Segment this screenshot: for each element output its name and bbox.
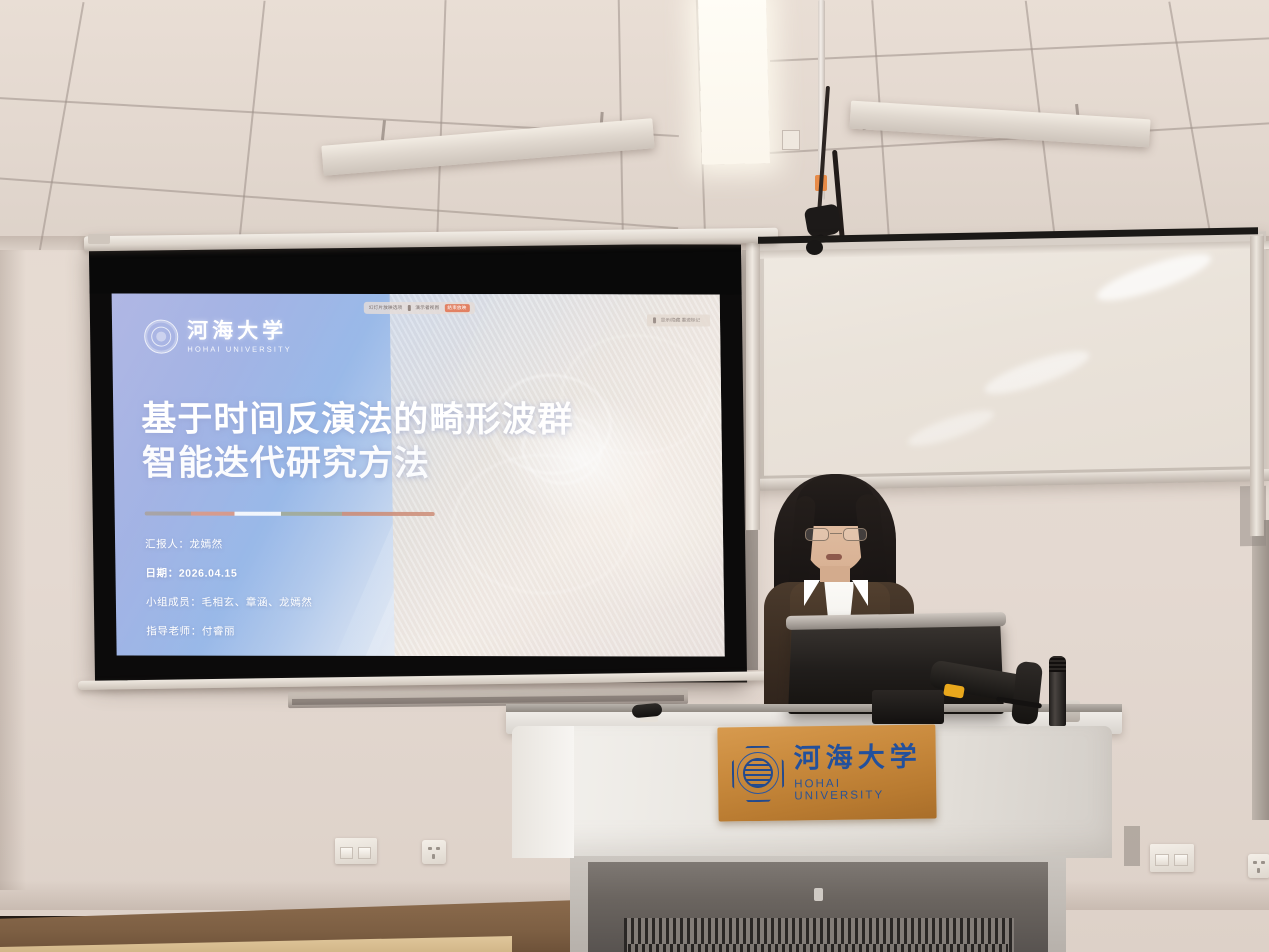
slide-title-line2: 智能迭代研究方法 xyxy=(142,442,575,487)
plaque-en-text: HOHAI UNIVERSITY xyxy=(794,776,936,802)
cabinet-ventilation-slots-lower xyxy=(628,944,1008,952)
shirt-collar-right xyxy=(852,580,868,606)
whiteboard xyxy=(752,231,1266,491)
whiteboard-right-post xyxy=(1250,236,1264,536)
hohai-seal-icon-plaque xyxy=(732,746,785,803)
ppt-end-show-badge[interactable]: 结束放映 xyxy=(444,304,469,312)
fluorescent-light-left xyxy=(321,118,654,176)
ppt-slideshow-toolbar[interactable]: 幻灯片放映选项 演示者视图 结束放映 xyxy=(364,302,475,314)
screen-roller-cap xyxy=(88,234,110,244)
projection-screen: 幻灯片放映选项 演示者视图 结束放映 显示/隐藏 墨迹标记 河海大学 HOHAI… xyxy=(89,243,747,682)
wall-corner-shadow xyxy=(0,250,26,890)
ppt-toolbar-label: 幻灯片放映选项 xyxy=(369,305,403,311)
ppt-toolbar-divider-icon xyxy=(407,305,410,311)
power-outlet-left[interactable] xyxy=(422,840,446,864)
slide-meta-presenter: 汇报人：龙嫣然 xyxy=(145,537,312,552)
wall-panel-edge xyxy=(1124,826,1140,866)
light-switch-plate-right[interactable] xyxy=(1150,844,1194,872)
fluorescent-light-right xyxy=(849,101,1150,148)
whiteboard-surface[interactable] xyxy=(764,244,1254,475)
wall-right-panel xyxy=(1252,520,1269,820)
presentation-slide: 幻灯片放映选项 演示者视图 结束放映 显示/隐藏 墨迹标记 河海大学 HOHAI… xyxy=(112,293,725,656)
glasses-lens-left xyxy=(805,528,829,541)
glasses-icon xyxy=(805,528,867,541)
ppt-ink-label: 显示/隐藏 墨迹标记 xyxy=(661,317,700,323)
cabinet-lock-icon[interactable] xyxy=(814,888,823,901)
slide-university-logo: 河海大学 HOHAI UNIVERSITY xyxy=(144,320,292,354)
podium-side-panel xyxy=(512,726,574,858)
light-switch-plate-left[interactable] xyxy=(335,838,377,864)
slide-logo-en: HOHAI UNIVERSITY xyxy=(187,344,292,353)
projector-mount-knob xyxy=(806,240,823,255)
mouth xyxy=(826,554,842,560)
monitor-stand xyxy=(872,690,944,724)
screen-black-border xyxy=(89,243,742,294)
slide-meta-block: 汇报人：龙嫣然 日期：2026.04.15 小组成员：毛相玄、章涵、龙嫣然 指导… xyxy=(145,537,313,653)
slide-meta-advisor: 指导老师：付睿丽 xyxy=(146,624,313,639)
slide-logo-cn: 河海大学 xyxy=(187,320,292,341)
glasses-lens-right xyxy=(843,528,867,541)
microphone-grille-icon xyxy=(1049,656,1066,672)
slide-title-line1: 基于时间反演法的畸形波群 xyxy=(141,398,574,443)
glasses-bridge xyxy=(830,533,842,534)
podium-nameplate: 河海大学 HOHAI UNIVERSITY xyxy=(717,724,936,821)
shirt-collar-left xyxy=(804,580,820,606)
hohai-seal-icon xyxy=(144,320,178,354)
classroom-scene: 幻灯片放映选项 演示者视图 结束放映 显示/隐藏 墨迹标记 河海大学 HOHAI… xyxy=(0,0,1269,952)
slide-meta-members: 小组成员：毛相玄、章涵、龙嫣然 xyxy=(146,595,313,610)
suspended-ceiling xyxy=(0,0,1269,250)
ppt-ink-icon xyxy=(653,317,656,323)
ppt-ink-toolbar[interactable]: 显示/隐藏 墨迹标记 xyxy=(647,314,710,326)
ppt-toolbar-secondary-label: 演示者视图 xyxy=(415,305,439,311)
slide-divider-rule xyxy=(145,512,435,517)
slide-meta-date: 日期：2026.04.15 xyxy=(145,566,312,581)
power-outlet-right[interactable] xyxy=(1248,854,1269,878)
plaque-cn-text: 河海大学 xyxy=(794,743,936,772)
ceiling-skylight-panel xyxy=(698,0,770,165)
slide-title: 基于时间反演法的畸形波群 智能迭代研究方法 xyxy=(141,398,574,487)
ceiling-sensor-plate xyxy=(782,130,800,150)
